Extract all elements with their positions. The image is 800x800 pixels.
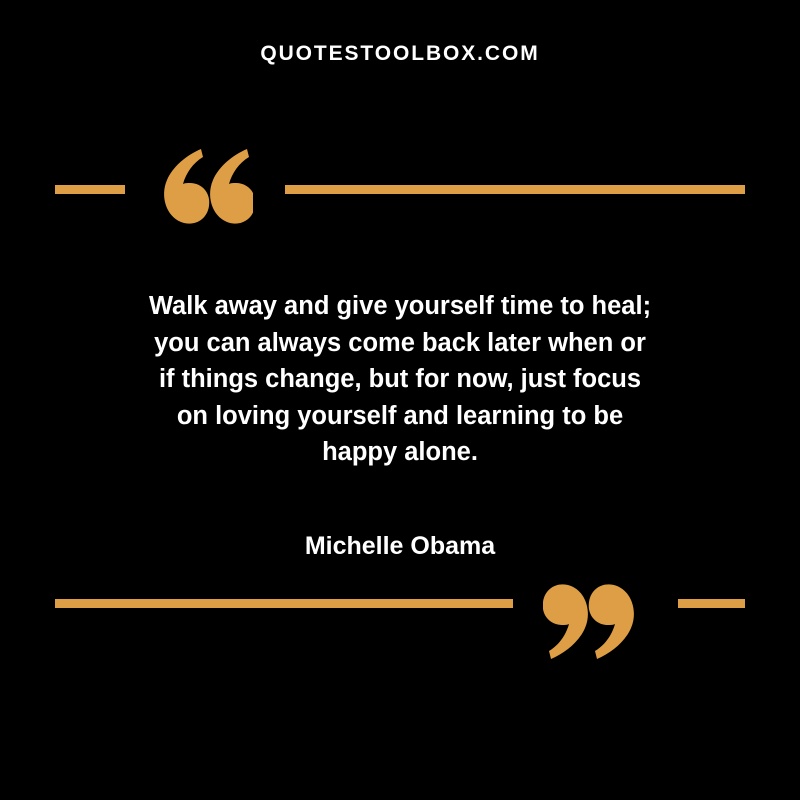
horizontal-rule-short-icon	[55, 185, 125, 194]
quote-card: QUOTESTOOLBOX.COM Walk away and give you…	[0, 0, 800, 800]
horizontal-rule-long-icon	[285, 185, 745, 194]
quote-author: Michelle Obama	[0, 532, 800, 561]
closing-double-quote-icon	[543, 578, 639, 662]
horizontal-rule-short-icon	[678, 599, 745, 608]
quote-line: you can always come back later when or	[100, 325, 700, 362]
quote-line: happy alone.	[100, 434, 700, 471]
quote-line: if things change, but for now, just focu…	[100, 361, 700, 398]
horizontal-rule-long-icon	[55, 599, 513, 608]
opening-double-quote-icon	[157, 146, 253, 230]
quote-line: on loving yourself and learning to be	[100, 398, 700, 435]
quote-line: Walk away and give yourself time to heal…	[100, 288, 700, 325]
site-watermark: QUOTESTOOLBOX.COM	[0, 42, 800, 66]
quote-text: Walk away and give yourself time to heal…	[100, 288, 700, 471]
